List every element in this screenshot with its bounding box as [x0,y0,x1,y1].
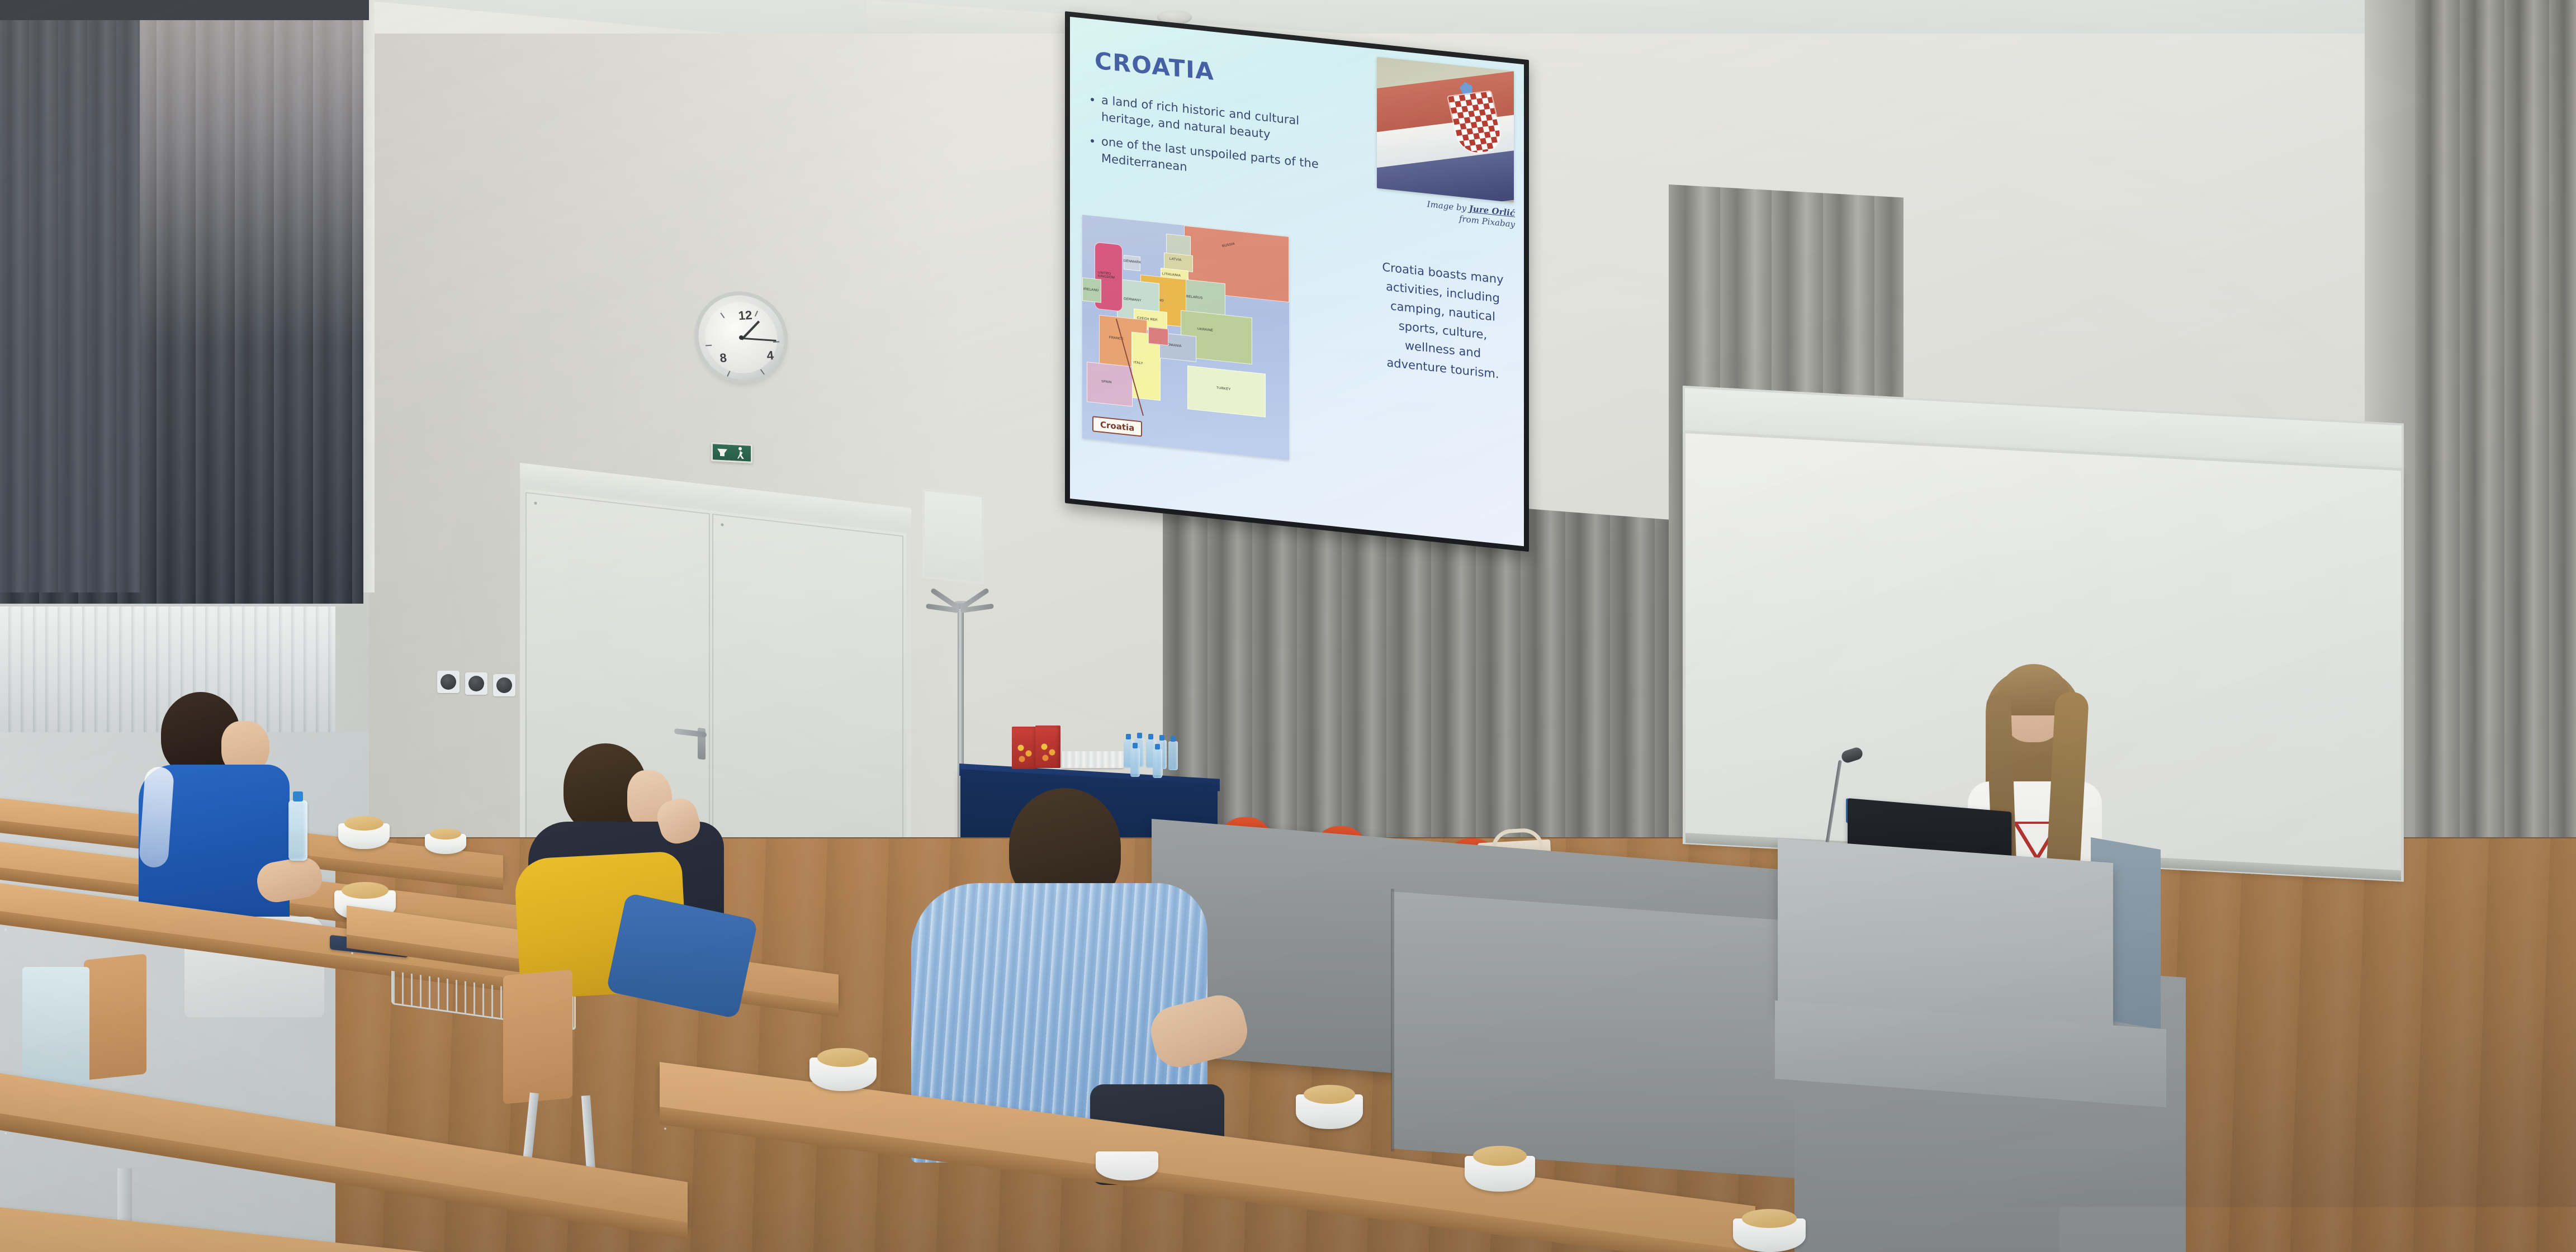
slide-title: CROATIA [1095,47,1215,86]
power-outlet[interactable] [465,672,487,695]
clock-number-12: 12 [738,308,753,323]
water-bottle[interactable] [288,800,307,861]
juice-carton[interactable] [1012,727,1037,769]
snack-bowl[interactable] [1733,1218,1806,1252]
slide-bullets: a land of rich historic and cultural her… [1087,90,1327,198]
cup-stack[interactable] [1062,751,1124,768]
projection-screen-frame: CROATIA a land of rich historic and cult… [1065,11,1529,552]
credit-prefix: Image by [1427,199,1469,214]
snack-bowl[interactable] [809,1057,877,1091]
water-bottle[interactable] [1168,741,1178,770]
map-country-turkey [1187,366,1266,418]
down-arrow-icon [717,448,727,456]
clock-tick [720,312,724,318]
snack-bowl[interactable] [1096,1151,1158,1180]
projected-slide: CROATIA a land of rich historic and cult… [1070,17,1524,546]
chair-backrest[interactable] [503,970,572,1104]
power-outlet[interactable] [493,674,515,696]
clock-face: 12 4 8 [702,300,780,375]
curtain-rail [0,0,369,20]
clock-tick [705,345,712,347]
emergency-exit-sign [711,442,752,463]
europe-map: RUSSIA LATVIA LITHUANIA BELARUS POLAND U… [1082,215,1289,460]
running-person-icon [736,447,746,459]
slide-blurb: Croatia boasts many activities, includin… [1373,257,1513,385]
clock-tick [755,311,758,317]
snack-bowl[interactable] [425,834,466,854]
clock-number-8: 8 [719,350,727,365]
power-outlet[interactable] [437,671,460,693]
croatian-flag-photo [1377,57,1514,203]
water-bottle[interactable] [1153,749,1162,778]
clock-number-4: 4 [766,348,774,363]
lecture-hall-photo: 12 4 8 [0,0,2576,1252]
projection-screen-assembly: CROATIA a land of rich historic and cult… [1065,11,1590,631]
chair-support [22,967,89,1095]
juice-carton[interactable] [1035,725,1060,768]
clock-minute-hand [741,338,776,342]
clock-tick [760,369,765,374]
snack-bowl[interactable] [338,823,390,849]
stage-panel-seam [1391,889,1394,1151]
wall-niche [922,489,984,585]
water-bottle[interactable] [1130,748,1140,777]
snack-bowl[interactable] [1296,1094,1363,1129]
map-callout-croatia: Croatia [1092,416,1142,437]
window-curtain-left-fold[interactable] [0,0,140,592]
snack-bowl[interactable] [1465,1156,1535,1192]
clock-tick [727,371,730,377]
map-country-croatia-highlight [1148,327,1168,346]
